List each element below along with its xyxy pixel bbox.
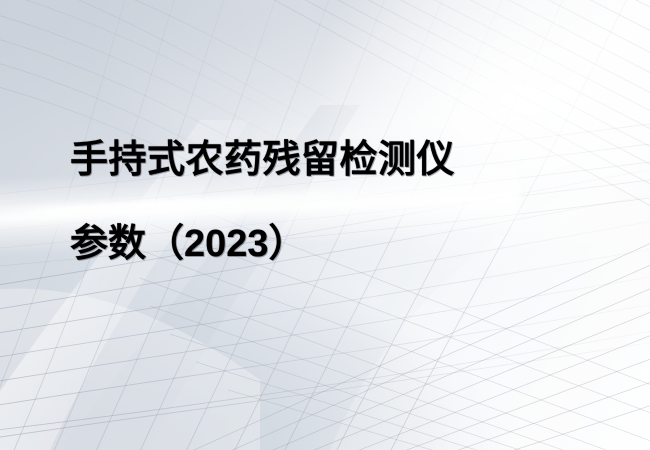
- banner-title-line-1: 手持式农药残留检测仪: [70, 118, 610, 202]
- banner-image: 手持式农药残留检测仪 参数（2023）: [0, 0, 650, 450]
- banner-title-line-2: 参数（2023）: [70, 202, 610, 286]
- banner-title-block: 手持式农药残留检测仪 参数（2023）: [70, 118, 610, 286]
